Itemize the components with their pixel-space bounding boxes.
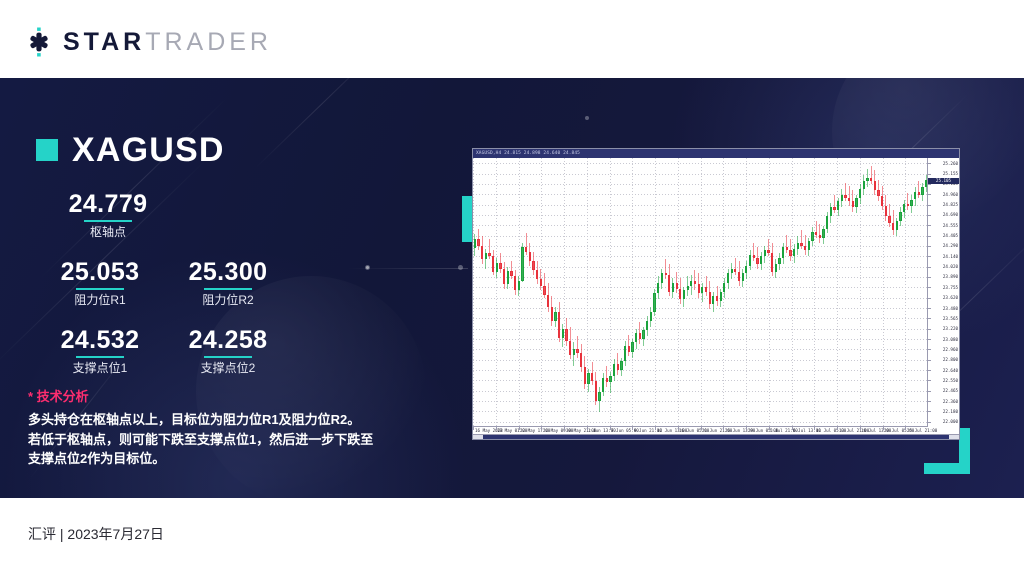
candle-wick	[871, 166, 872, 184]
candle-wick	[786, 235, 787, 253]
technical-analysis-block: * 技术分析 多头持仓在枢轴点以上，目标位为阻力位R1及阻力位R2。 若低于枢轴…	[28, 388, 400, 469]
price-tick-mark	[928, 184, 931, 185]
brand-name-bold: STAR	[63, 28, 145, 56]
symbol-name: XAGUSD	[72, 133, 225, 167]
candle-body	[661, 273, 663, 282]
candle-body	[584, 367, 586, 384]
candle-body	[587, 373, 589, 384]
level-r1-value: 25.053	[36, 258, 164, 287]
level-underline	[76, 356, 124, 358]
level-r1: 25.053 阻力位R1	[36, 258, 164, 308]
candle-body	[687, 286, 689, 291]
time-tick-mark	[746, 427, 747, 430]
candle-body	[844, 195, 846, 198]
candle-body	[547, 295, 549, 307]
grid-line-vertical	[905, 158, 906, 427]
candlestick-plot-area[interactable]	[473, 158, 928, 427]
candle-body	[745, 266, 747, 274]
technical-analysis-line-2: 若低于枢轴点，则可能下跌至支撑点位1，然后进一步下跌至	[28, 430, 400, 450]
candle-body	[536, 270, 538, 279]
price-tick-label: 23.080	[943, 337, 958, 342]
candle-wick	[918, 181, 919, 198]
candle-body	[888, 216, 890, 222]
candle-body	[782, 247, 784, 258]
price-tick-mark	[928, 329, 931, 330]
candle-body	[573, 349, 575, 355]
candle-body	[569, 341, 571, 355]
price-tick-label: 24.690	[943, 212, 958, 217]
price-tick-mark	[928, 360, 931, 361]
candle-body	[859, 189, 861, 198]
candle-body	[841, 195, 843, 201]
candle-body	[496, 263, 498, 272]
candle-body	[903, 204, 905, 212]
level-underline	[84, 220, 132, 222]
candle-body	[701, 287, 703, 293]
price-tick-mark	[928, 256, 931, 257]
candle-body	[488, 253, 490, 257]
price-tick-label: 22.000	[943, 419, 958, 424]
candle-body	[771, 253, 773, 271]
time-tick-mark	[905, 427, 906, 430]
symbol-marker-icon	[36, 139, 58, 161]
price-tick-label: 22.360	[943, 399, 958, 404]
grid-line-vertical	[746, 158, 747, 427]
candle-body	[921, 187, 923, 195]
pivot-levels: 24.779 枢轴点 25.053 阻力位R1 25.300 阻力位R2 24.…	[36, 190, 296, 376]
technical-analysis-line-3: 支撑点位2作为目标位。	[28, 449, 400, 469]
candle-wick	[665, 259, 666, 279]
candle-wick	[816, 221, 817, 238]
price-tick-mark	[928, 236, 931, 237]
candle-body	[907, 204, 909, 206]
price-tick-mark	[928, 391, 931, 392]
price-tick-label: 24.960	[943, 192, 958, 197]
candle-body	[620, 361, 622, 370]
price-tick-mark	[928, 225, 931, 226]
mt4-chart-window[interactable]: XAGUSD,H4 24.815 24.898 24.640 24.845 25…	[472, 148, 960, 440]
candle-body	[789, 250, 791, 256]
candle-body	[514, 276, 516, 290]
candle-body	[532, 261, 534, 270]
candle-body	[753, 255, 755, 258]
price-tick-mark	[928, 349, 931, 350]
candle-body	[562, 329, 564, 338]
candle-body	[606, 378, 608, 383]
price-tick-mark	[928, 174, 931, 175]
time-tick-mark	[814, 427, 815, 430]
candle-body	[474, 239, 476, 247]
candle-body	[477, 239, 479, 245]
candle-body	[521, 247, 523, 281]
candle-body	[793, 249, 795, 257]
candle-body	[631, 342, 633, 351]
candle-body	[731, 269, 733, 274]
price-tick-mark	[928, 308, 931, 309]
candle-body	[855, 198, 857, 207]
price-tick-mark	[928, 380, 931, 381]
candle-wick	[735, 258, 736, 275]
price-tick-mark	[928, 339, 931, 340]
candle-body	[709, 292, 711, 304]
corner-bracket-bottom-right-h	[924, 463, 970, 474]
chart-scrollbar-thumb[interactable]	[483, 435, 950, 439]
price-tick-label: 24.405	[943, 233, 958, 238]
candle-body	[899, 212, 901, 221]
price-tick-mark	[928, 318, 931, 319]
candle-body	[797, 243, 799, 249]
candle-body	[657, 283, 659, 294]
candle-body	[874, 181, 876, 190]
support-row: 24.532 支撑点位1 24.258 支撑点位2	[36, 326, 296, 376]
candle-body	[848, 198, 850, 201]
grid-line-vertical	[541, 158, 542, 427]
decor-streak-3	[255, 78, 385, 169]
price-tick-label: 22.550	[943, 378, 958, 383]
candle-body	[786, 247, 788, 250]
level-underline	[204, 288, 252, 290]
grid-line-vertical	[814, 158, 815, 427]
grid-line-vertical	[769, 158, 770, 427]
candle-body	[672, 283, 674, 292]
candle-body	[698, 284, 700, 293]
price-tick-mark	[928, 298, 931, 299]
candle-body	[653, 293, 655, 311]
footer-bar: 汇评 | 2023年7月27日	[0, 498, 1024, 576]
level-underline	[204, 356, 252, 358]
candle-body	[826, 216, 828, 228]
candle-body	[756, 258, 758, 264]
candle-body	[760, 256, 762, 264]
price-tick-mark	[928, 215, 931, 216]
brand-wordmark: STARTRADER	[63, 27, 272, 57]
candle-body	[775, 264, 777, 272]
candle-wick	[819, 224, 820, 242]
level-s1-label: 支撑点位1	[36, 361, 164, 376]
candle-body	[507, 271, 509, 284]
candle-body	[749, 255, 751, 266]
price-tick-mark	[928, 246, 931, 247]
candle-body	[837, 201, 839, 210]
candle-body	[910, 200, 912, 206]
candle-body	[742, 273, 744, 281]
candle-wick	[801, 230, 802, 248]
grid-line-vertical	[632, 158, 633, 427]
price-tick-mark	[928, 163, 931, 164]
time-tick-mark	[564, 427, 565, 430]
candle-body	[833, 207, 835, 210]
candle-body	[683, 290, 685, 299]
price-tick-label: 22.640	[943, 368, 958, 373]
candle-body	[642, 330, 644, 339]
candle-body	[918, 192, 920, 195]
candle-body	[529, 252, 531, 261]
time-tick-mark	[473, 427, 474, 430]
candle-wick	[606, 366, 607, 388]
candle-wick	[753, 243, 754, 261]
price-tick-label: 24.825	[943, 202, 958, 207]
time-tick-mark	[655, 427, 656, 430]
candle-body	[896, 221, 898, 230]
candle-body	[646, 321, 648, 330]
current-price-label: 25.105	[928, 178, 959, 184]
candle-body	[727, 273, 729, 282]
brand-name-light: TRADER	[145, 28, 272, 56]
candle-body	[676, 283, 678, 289]
candle-body	[866, 178, 868, 181]
level-pivot: 24.779 枢轴点	[52, 190, 164, 240]
candle-body	[576, 349, 578, 354]
level-s1: 24.532 支撑点位1	[36, 326, 164, 376]
candle-wick	[834, 195, 835, 213]
candle-body	[892, 223, 894, 231]
price-tick-label: 22.180	[943, 409, 958, 414]
candle-body	[639, 333, 641, 339]
candle-body	[694, 281, 696, 284]
price-tick-label: 24.555	[943, 223, 958, 228]
technical-analysis-line-1: 多头持仓在枢轴点以上，目标位为阻力位R1及阻力位R2。	[28, 410, 400, 430]
candle-body	[690, 281, 692, 286]
candle-body	[665, 273, 667, 275]
grid-line-vertical	[473, 158, 474, 427]
candle-body	[499, 263, 501, 270]
candle-body	[558, 312, 560, 338]
price-tick-label: 25.155	[943, 171, 958, 176]
candle-body	[877, 190, 879, 196]
price-tick-label: 23.220	[943, 326, 958, 331]
candle-body	[635, 333, 637, 342]
candle-body	[723, 283, 725, 292]
level-s2: 24.258 支撑点位2	[164, 326, 292, 376]
candle-body	[808, 241, 810, 250]
candle-wick	[849, 186, 850, 206]
candle-body	[822, 229, 824, 238]
candle-wick	[610, 372, 611, 394]
price-tick-label: 22.465	[943, 388, 958, 393]
level-r1-label: 阻力位R1	[36, 293, 164, 308]
level-r2-label: 阻力位R2	[164, 293, 292, 308]
candle-body	[734, 269, 736, 272]
footer-caption: 汇评 | 2023年7月27日	[28, 524, 164, 544]
candle-body	[778, 258, 780, 264]
candle-body	[628, 346, 630, 352]
time-tick-mark	[541, 427, 542, 430]
price-tick-mark	[928, 194, 931, 195]
candle-body	[800, 243, 802, 246]
candle-wick	[768, 239, 769, 256]
candle-body	[705, 287, 707, 292]
price-tick-label: 22.960	[943, 347, 958, 352]
price-tick-label: 24.020	[943, 264, 958, 269]
price-tick-mark	[928, 370, 931, 371]
price-tick-label: 23.890	[943, 274, 958, 279]
time-tick-mark	[837, 427, 838, 430]
candle-body	[830, 207, 832, 216]
level-s1-value: 24.532	[36, 326, 164, 355]
price-tick-label: 23.620	[943, 295, 958, 300]
candle-body	[525, 247, 527, 252]
candle-body	[852, 201, 854, 207]
candle-body	[712, 296, 714, 304]
decor-dot-4	[585, 116, 589, 120]
price-tick-mark	[928, 205, 931, 206]
level-r2-value: 25.300	[164, 258, 292, 287]
grid-line-vertical	[792, 158, 793, 427]
candle-body	[609, 376, 611, 382]
candle-body	[540, 279, 542, 285]
decor-dot-3	[458, 265, 463, 270]
price-tick-label: 23.565	[943, 316, 958, 321]
price-tick-label: 25.260	[943, 161, 958, 166]
symbol-header: XAGUSD	[36, 133, 225, 167]
candle-body	[881, 196, 883, 205]
price-tick-label: 24.140	[943, 254, 958, 259]
candle-body	[510, 271, 512, 276]
asterisk-logo-icon	[24, 27, 54, 57]
candle-body	[595, 381, 597, 401]
price-tick-label: 24.290	[943, 243, 958, 248]
candle-body	[650, 312, 652, 321]
level-pivot-value: 24.779	[52, 190, 164, 219]
candle-wick	[845, 183, 846, 201]
candle-body	[914, 192, 916, 200]
candle-body	[503, 269, 505, 284]
chart-scrollbar[interactable]	[473, 434, 959, 439]
price-tick-mark	[928, 287, 931, 288]
candle-body	[863, 181, 865, 189]
candle-wick	[489, 239, 490, 259]
candle-body	[624, 346, 626, 361]
candle-body	[485, 253, 487, 260]
price-tick-mark	[928, 401, 931, 402]
candle-body	[565, 329, 567, 341]
price-axis[interactable]: 25.26025.15525.10524.96024.82524.69024.5…	[927, 158, 959, 427]
candle-body	[518, 281, 520, 290]
candle-body	[602, 378, 604, 392]
header-bar: STARTRADER	[0, 0, 1024, 78]
candle-body	[804, 246, 806, 251]
technical-analysis-title: * 技术分析	[28, 388, 400, 405]
candle-body	[554, 312, 556, 321]
candle-body	[767, 250, 769, 253]
time-tick-mark	[723, 427, 724, 430]
candle-body	[819, 235, 821, 238]
level-underline	[76, 288, 124, 290]
candle-body	[598, 392, 600, 401]
price-tick-label: 22.800	[943, 357, 958, 362]
candle-body	[668, 275, 670, 292]
candle-body	[481, 246, 483, 260]
candle-body	[679, 289, 681, 300]
level-s2-value: 24.258	[164, 326, 292, 355]
candle-body	[543, 286, 545, 295]
candle-body	[492, 256, 494, 271]
brand-logo: STARTRADER	[24, 27, 272, 57]
price-tick-label: 23.480	[943, 306, 958, 311]
chart-title-bar: XAGUSD,H4 24.815 24.898 24.640 24.845	[473, 149, 959, 158]
candle-body	[764, 250, 766, 256]
grid-line-vertical	[496, 158, 497, 427]
candle-body	[617, 364, 619, 370]
candle-body	[580, 353, 582, 367]
candle-body	[815, 232, 817, 235]
candle-wick	[907, 193, 908, 210]
level-r2: 25.300 阻力位R2	[164, 258, 292, 308]
level-pivot-label: 枢轴点	[52, 225, 164, 240]
level-s2-label: 支撑点位2	[164, 361, 292, 376]
price-tick-mark	[928, 411, 931, 412]
candle-body	[613, 364, 615, 376]
candle-body	[716, 296, 718, 301]
candle-body	[551, 307, 553, 321]
price-tick-mark	[928, 277, 931, 278]
price-tick-mark	[928, 267, 931, 268]
candle-body	[811, 232, 813, 241]
candle-body	[591, 373, 593, 381]
candle-body	[720, 292, 722, 301]
candle-body	[738, 272, 740, 281]
decor-dot-2	[366, 266, 369, 269]
resistance-row: 25.053 阻力位R1 25.300 阻力位R2	[36, 258, 296, 308]
pivot-row: 24.779 枢轴点	[36, 190, 296, 240]
time-tick-mark	[632, 427, 633, 430]
price-tick-mark	[928, 422, 931, 423]
candle-wick	[577, 336, 578, 358]
candle-body	[870, 178, 872, 181]
creative-card: STARTRADER XAGUSD 24.779	[0, 0, 1024, 576]
candle-body	[885, 206, 887, 217]
grid-line-vertical	[564, 158, 565, 427]
price-tick-label: 23.755	[943, 285, 958, 290]
